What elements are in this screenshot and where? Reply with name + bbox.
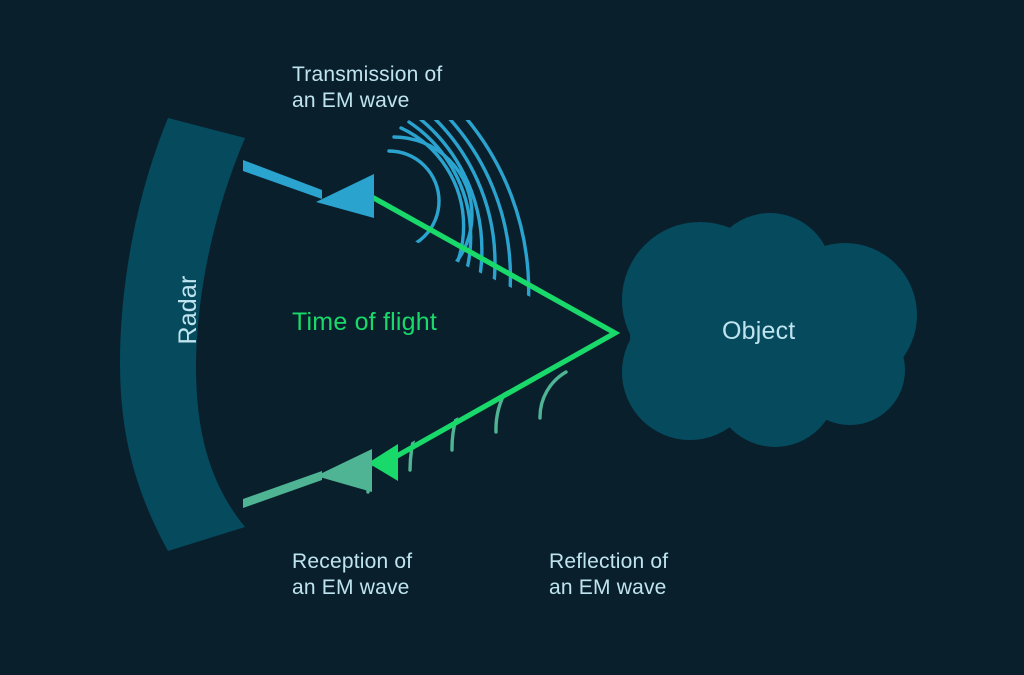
transmit-arrow — [243, 160, 374, 218]
time-of-flight-path — [368, 197, 615, 481]
label-time-of-flight: Time of flight — [292, 307, 437, 337]
receive-arrow — [243, 449, 372, 508]
diagram-canvas — [0, 0, 1024, 675]
label-reception: Reception of an EM wave — [292, 549, 412, 601]
label-object: Object — [722, 316, 795, 346]
label-radar: Radar — [173, 250, 203, 370]
transmit-wavefronts — [389, 116, 529, 464]
label-reflection: Reflection of an EM wave — [549, 549, 668, 601]
radar-time-of-flight-diagram: Transmission of an EM wave Reception of … — [0, 0, 1024, 675]
label-transmission: Transmission of an EM wave — [292, 62, 442, 114]
